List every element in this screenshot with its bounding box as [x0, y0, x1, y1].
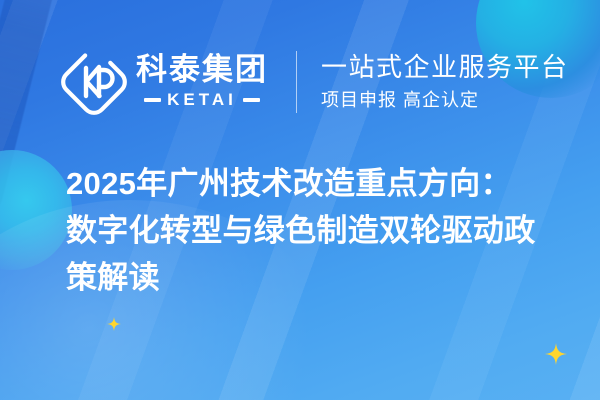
ketai-logo-icon [58, 46, 130, 118]
promo-banner: 科泰集团 KETAI 一站式企业服务平台 项目申报 高企认定 2025年广州技术… [0, 0, 600, 400]
sparkle-star-icon [545, 343, 567, 365]
logo-chinese-name: 科泰集团 [136, 54, 268, 87]
tagline-sub: 项目申报 高企认定 [321, 90, 569, 112]
cyan-blob-mid-left [0, 150, 72, 270]
logo-dash-left-icon [144, 98, 161, 102]
banner-title: 2025年广州技术改造重点方向：数字化转型与绿色制造双轮驱动政策解读 [66, 160, 540, 301]
logo-dash-right-icon [243, 98, 260, 102]
banner-header: 科泰集团 KETAI 一站式企业服务平台 项目申报 高企认定 [58, 40, 569, 124]
sparkle-star-icon [107, 317, 121, 331]
header-divider [296, 51, 297, 113]
tagline-main: 一站式企业服务平台 [321, 52, 569, 82]
logo-english-name: KETAI [167, 90, 237, 110]
logo-wordmark: 科泰集团 KETAI [136, 54, 268, 111]
tagline-block: 一站式企业服务平台 项目申报 高企认定 [321, 52, 569, 112]
logo-english-row: KETAI [136, 90, 268, 110]
